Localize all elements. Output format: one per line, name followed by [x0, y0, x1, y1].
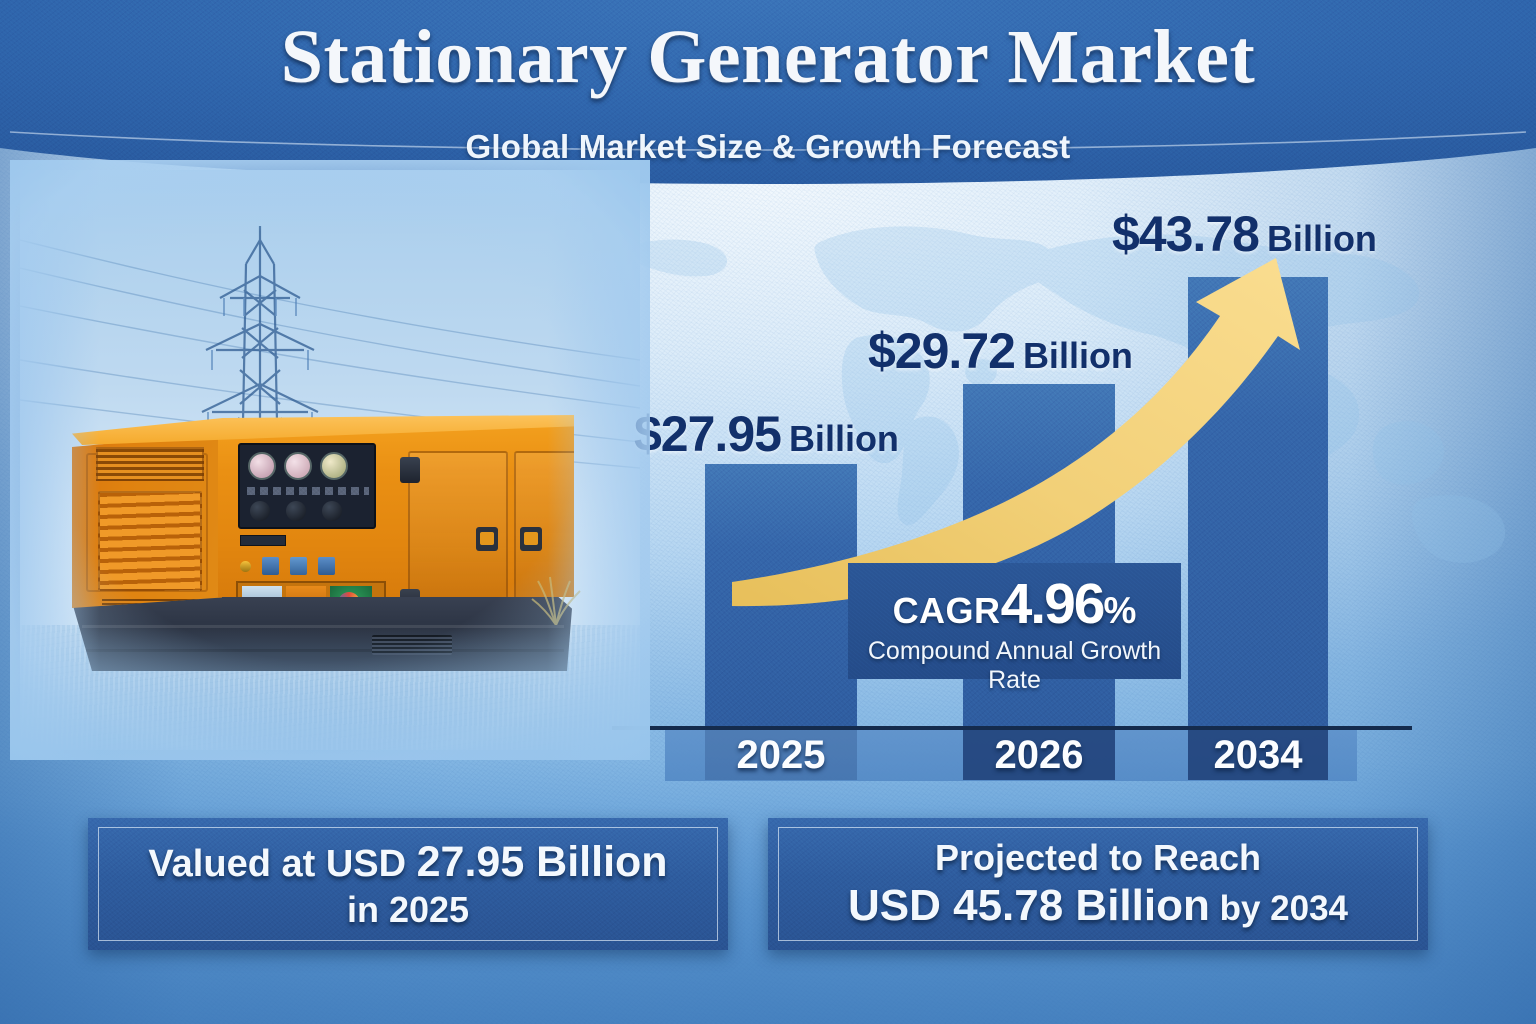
card1-line1: Valued at USD 27.95 Billion: [148, 838, 667, 887]
stationary-generator-illustration: [50, 395, 580, 670]
bar-value-unit-2025: Billion: [789, 418, 899, 459]
year-label-2034: 2034: [1178, 733, 1338, 778]
year-label-2026: 2026: [959, 733, 1119, 778]
bar-value-label-2025: $27.95Billion: [634, 405, 899, 463]
card2-line2-strong: USD 45.78 Billion: [848, 881, 1210, 930]
bar-value-amount-2034: $43.78: [1112, 206, 1259, 262]
cagr-label: CAGR: [893, 590, 1001, 631]
generator-base-ridge: [82, 625, 564, 628]
gauge-icon-1: [248, 452, 276, 480]
door-handle-right: [520, 527, 542, 551]
indicator-lamp-icon: [240, 561, 251, 572]
bar-value-label-2026: $29.72Billion: [868, 322, 1133, 380]
control-panel-readout: [247, 487, 369, 495]
grass-tuft: [528, 573, 584, 625]
generator-grille: [96, 447, 204, 481]
gauge-icon-3: [320, 452, 348, 480]
generator-side-panel: [72, 433, 222, 608]
control-knob-3: [322, 501, 342, 521]
cagr-value: 4.96: [1001, 572, 1104, 636]
year-label-2025: 2025: [701, 733, 861, 778]
generator-photo: [20, 170, 640, 750]
door-handle-left: [476, 527, 498, 551]
generator-front-panel: [218, 421, 574, 597]
card1-line1-prefix: Valued at USD: [148, 843, 416, 885]
cagr-callout: CAGR4.96% Compound Annual Growth Rate: [848, 563, 1181, 679]
card1-line2: in 2025: [347, 889, 469, 931]
card2-line2: USD 45.78 Billion by 2034: [848, 881, 1348, 931]
control-knob-1: [250, 501, 270, 521]
switch-2: [290, 557, 307, 575]
bar-2034[interactable]: [1188, 277, 1328, 726]
page-subtitle: Global Market Size & Growth Forecast: [0, 128, 1536, 166]
generator-control-panel: [238, 443, 376, 529]
card2-line2-suffix: by 2034: [1210, 889, 1348, 928]
generator-base-ridge-lower: [82, 649, 564, 652]
cagr-percent-symbol: %: [1104, 590, 1137, 631]
card2-line1: Projected to Reach: [935, 837, 1261, 879]
switch-3: [318, 557, 335, 575]
infographic-root: Stationary Generator Market Global Marke…: [0, 0, 1536, 1024]
switch-1: [262, 557, 279, 575]
generator-nameplate: [240, 535, 286, 546]
generator-louver-vent: [98, 491, 202, 591]
generator-base: [72, 591, 572, 671]
generator-base-vent: [372, 635, 452, 655]
market-projection-card: Projected to Reach USD 45.78 Billion by …: [768, 818, 1428, 950]
card-text-1: Valued at USD 27.95 Billion in 2025: [88, 818, 728, 950]
cagr-description: Compound Annual Growth Rate: [848, 637, 1181, 695]
bar-value-amount-2025: $27.95: [634, 406, 781, 462]
chart-baseline-axis: [612, 726, 1412, 730]
card1-line1-strong: 27.95 Billion: [417, 838, 668, 886]
gauge-icon-2: [284, 452, 312, 480]
bar-value-unit-2034: Billion: [1267, 218, 1377, 259]
bar-value-unit-2026: Billion: [1023, 335, 1133, 376]
door-hinge-top-left: [400, 457, 420, 483]
market-value-card: Valued at USD 27.95 Billion in 2025: [88, 818, 728, 950]
cagr-headline: CAGR4.96%: [848, 571, 1181, 637]
generator-switch-row: [238, 553, 384, 579]
card-text-2: Projected to Reach USD 45.78 Billion by …: [768, 818, 1428, 950]
bar-value-label-2034: $43.78Billion: [1112, 205, 1377, 263]
bar-2025[interactable]: [705, 464, 857, 726]
page-title: Stationary Generator Market: [0, 14, 1536, 101]
control-knob-2: [286, 501, 306, 521]
bar-value-amount-2026: $29.72: [868, 323, 1015, 379]
